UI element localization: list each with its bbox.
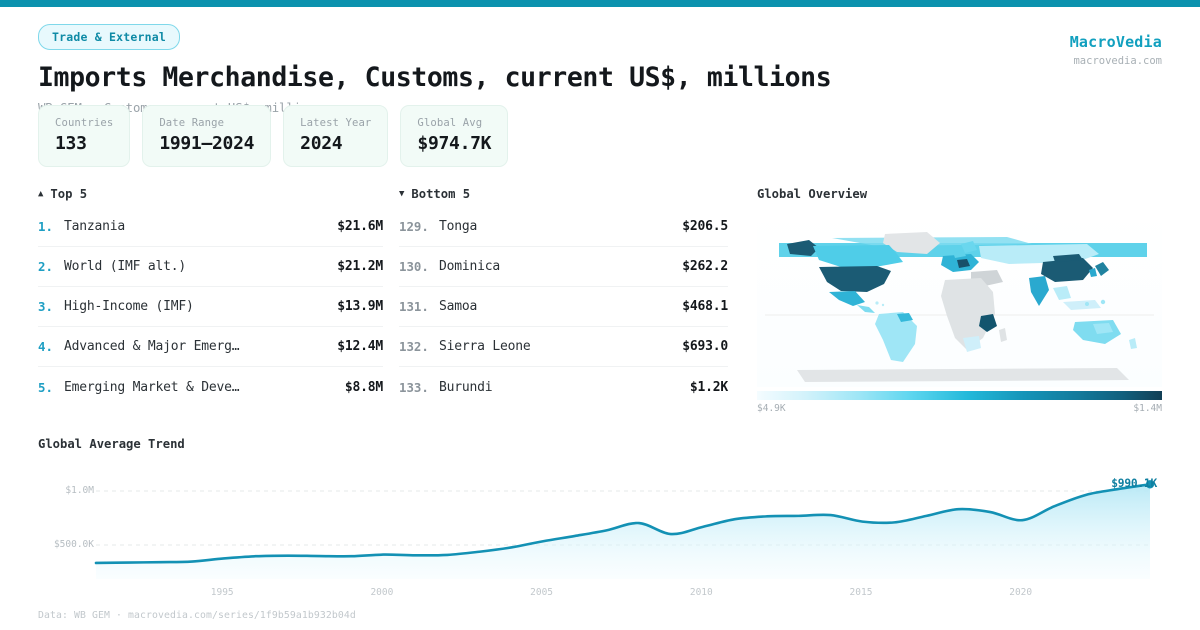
top-5-heading-label: Top 5 [50, 187, 87, 201]
map-legend: $4.9K $1.4M [757, 391, 1162, 414]
x-tick-label: 2010 [690, 587, 713, 598]
x-tick-label: 2015 [850, 587, 873, 598]
page-title: Imports Merchandise, Customs, current US… [38, 62, 798, 93]
stat-value: 133 [55, 133, 113, 154]
y-tick-label: $500.0K [38, 539, 94, 550]
rank-value: $262.2 [682, 259, 728, 274]
rank-value: $693.0 [682, 339, 728, 354]
global-average-trend: Global Average Trend $1.0M $500.0K $990.… [38, 437, 1163, 601]
trend-end-value-label: $990.1K [1111, 477, 1157, 490]
table-row[interactable]: 132. Sierra Leone $693.0 [399, 327, 728, 367]
rank-name: Samoa [439, 299, 682, 314]
rank-number: 3. [38, 299, 64, 314]
table-row[interactable]: 130. Dominica $262.2 [399, 247, 728, 287]
triangle-up-icon: ▲ [38, 190, 43, 199]
trend-chart[interactable]: $1.0M $500.0K $990.1K 1995 2000 2005 201… [38, 461, 1163, 601]
rank-value: $206.5 [682, 219, 728, 234]
x-tick-label: 2020 [1009, 587, 1032, 598]
table-row[interactable]: 2. World (IMF alt.) $21.2M [38, 247, 383, 287]
x-tick-label: 1995 [211, 587, 234, 598]
rank-value: $468.1 [682, 299, 728, 314]
stat-card-date-range: Date Range 1991–2024 [142, 105, 271, 167]
rank-number: 2. [38, 259, 64, 274]
rank-name: Advanced & Major Emerg… [64, 339, 337, 354]
legend-min-label: $4.9K [757, 403, 786, 414]
stat-card-latest-year: Latest Year 2024 [283, 105, 388, 167]
table-row[interactable]: 133. Burundi $1.2K [399, 367, 728, 407]
rank-number: 131. [399, 299, 439, 314]
brand-url: macrovedia.com [1070, 55, 1162, 67]
x-tick-label: 2000 [370, 587, 393, 598]
table-row[interactable]: 131. Samoa $468.1 [399, 287, 728, 327]
rank-name: Tonga [439, 219, 682, 234]
stat-card-countries: Countries 133 [38, 105, 130, 167]
stat-value: 2024 [300, 133, 371, 154]
stat-card-global-avg: Global Avg $974.7K [400, 105, 508, 167]
table-row[interactable]: 1. Tanzania $21.6M [38, 207, 383, 247]
rank-name: Tanzania [64, 219, 337, 234]
rank-number: 130. [399, 259, 439, 274]
rank-number: 5. [38, 380, 64, 395]
stat-label: Date Range [159, 117, 254, 129]
stat-value: 1991–2024 [159, 133, 254, 154]
rank-value: $12.4M [337, 339, 383, 354]
world-choropleth-map[interactable] [757, 210, 1162, 387]
triangle-down-icon: ▼ [399, 190, 404, 199]
rank-value: $8.8M [345, 380, 383, 395]
table-row[interactable]: 5. Emerging Market & Deve… $8.8M [38, 367, 383, 407]
rank-value: $21.6M [337, 219, 383, 234]
stat-cards: Countries 133 Date Range 1991–2024 Lates… [38, 105, 508, 167]
header: Trade & External Imports Merchandise, Cu… [38, 24, 798, 115]
rank-name: World (IMF alt.) [64, 259, 337, 274]
rank-name: High-Income (IMF) [64, 299, 337, 314]
rank-number: 4. [38, 339, 64, 354]
top-5-heading: ▲ Top 5 [38, 187, 383, 201]
bottom-5-list: ▼ Bottom 5 129. Tonga $206.5 130. Domini… [383, 187, 728, 407]
table-row[interactable]: 129. Tonga $206.5 [399, 207, 728, 247]
table-row[interactable]: 3. High-Income (IMF) $13.9M [38, 287, 383, 327]
bottom-5-heading-label: Bottom 5 [411, 187, 470, 201]
brand: MacroVedia macrovedia.com [1070, 33, 1162, 67]
legend-max-label: $1.4M [1133, 403, 1162, 414]
footer-source: Data: WB GEM · macrovedia.com/series/1f9… [38, 610, 356, 621]
rank-name: Emerging Market & Deve… [64, 380, 345, 395]
rank-value: $1.2K [690, 380, 728, 395]
stat-label: Countries [55, 117, 113, 129]
rank-number: 129. [399, 219, 439, 234]
rank-number: 133. [399, 380, 439, 395]
map-heading: Global Overview [757, 187, 1162, 201]
stat-label: Latest Year [300, 117, 371, 129]
brand-name: MacroVedia [1070, 33, 1162, 51]
top-accent-bar [0, 0, 1200, 7]
rank-value: $13.9M [337, 299, 383, 314]
rank-name: Burundi [439, 380, 690, 395]
category-badge: Trade & External [38, 24, 180, 50]
global-overview-panel: Global Overview [757, 187, 1162, 414]
rank-number: 1. [38, 219, 64, 234]
table-row[interactable]: 4. Advanced & Major Emerg… $12.4M [38, 327, 383, 367]
legend-ticks: $4.9K $1.4M [757, 403, 1162, 414]
stat-label: Global Avg [417, 117, 491, 129]
stat-value: $974.7K [417, 133, 491, 154]
legend-gradient-bar [757, 391, 1162, 400]
y-tick-label: $1.0M [38, 485, 94, 496]
page-root: Trade & External Imports Merchandise, Cu… [0, 7, 1200, 630]
trend-heading: Global Average Trend [38, 437, 1163, 451]
rank-number: 132. [399, 339, 439, 354]
rank-name: Sierra Leone [439, 339, 682, 354]
bottom-5-heading: ▼ Bottom 5 [399, 187, 728, 201]
rank-lists: ▲ Top 5 1. Tanzania $21.6M 2. World (IMF… [38, 187, 728, 407]
rank-value: $21.2M [337, 259, 383, 274]
x-tick-label: 2005 [530, 587, 553, 598]
rank-name: Dominica [439, 259, 682, 274]
top-5-list: ▲ Top 5 1. Tanzania $21.6M 2. World (IMF… [38, 187, 383, 407]
